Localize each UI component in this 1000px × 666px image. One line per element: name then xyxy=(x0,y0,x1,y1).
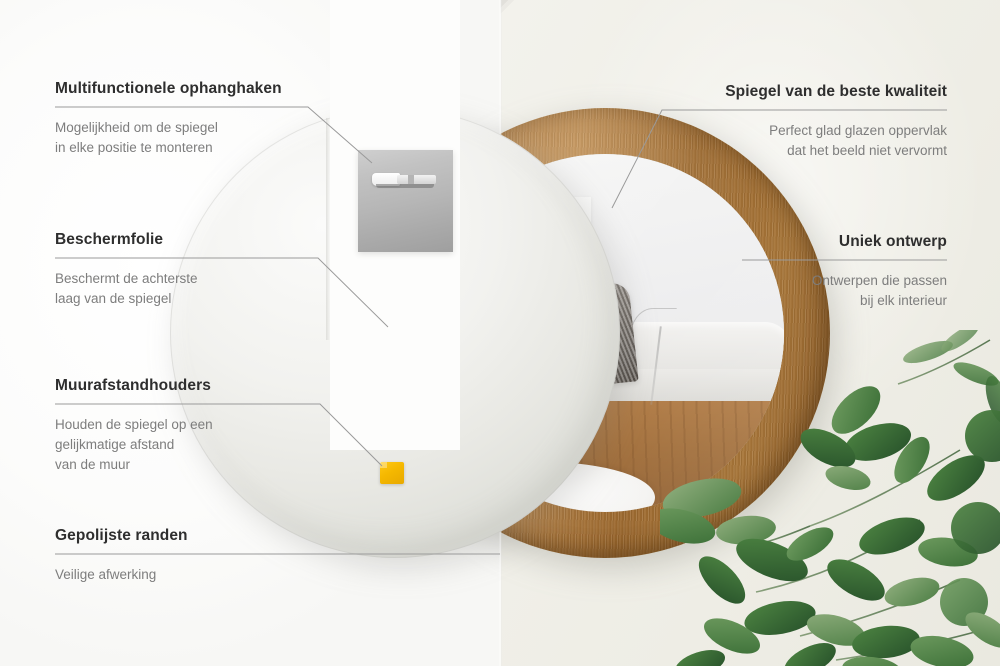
callout-title-muurafstandhouders: Muurafstandhouders xyxy=(55,377,315,396)
callout-gepolijste-randen: Gepolijste randen Veilige afwerking xyxy=(55,527,315,585)
callout-body-gepolijste-randen: Veilige afwerking xyxy=(55,565,315,585)
callout-beschermfolie: Beschermfolie Beschermt de achterste laa… xyxy=(55,231,315,309)
wall-spacer-yellow xyxy=(380,462,404,484)
hanging-hook-detail xyxy=(358,150,453,252)
callout-ophanghaken: Multifunctionele ophanghaken Mogelijkhei… xyxy=(55,80,315,158)
callout-body-ophanghaken: Mogelijkheid om de spiegel in elke posit… xyxy=(55,118,315,159)
callout-ontwerp: Uniek ontwerp Ontwerpen die passen bij e… xyxy=(727,233,947,311)
callout-kwaliteit: Spiegel van de beste kwaliteit Perfect g… xyxy=(647,83,947,161)
hook-icon xyxy=(372,172,436,188)
callout-body-beschermfolie: Beschermt de achterste laag van de spieg… xyxy=(55,269,315,310)
callout-body-muurafstandhouders: Houden de spiegel op een gelijkmatige af… xyxy=(55,415,315,476)
callout-title-ophanghaken: Multifunctionele ophanghaken xyxy=(55,80,315,99)
callout-body-kwaliteit: Perfect glad glazen oppervlak dat het be… xyxy=(647,121,947,162)
back-panel-edge xyxy=(326,118,330,340)
infographic-canvas: Multifunctionele ophanghaken Mogelijkhei… xyxy=(0,0,1000,666)
callout-muurafstandhouders: Muurafstandhouders Houden de spiegel op … xyxy=(55,377,315,475)
callout-title-beschermfolie: Beschermfolie xyxy=(55,231,315,250)
callout-title-gepolijste-randen: Gepolijste randen xyxy=(55,527,315,546)
callout-body-ontwerp: Ontwerpen die passen bij elk interieur xyxy=(727,271,947,312)
callout-title-ontwerp: Uniek ontwerp xyxy=(727,233,947,252)
reflection-lamp-arc xyxy=(630,308,677,365)
callout-title-kwaliteit: Spiegel van de beste kwaliteit xyxy=(647,83,947,102)
